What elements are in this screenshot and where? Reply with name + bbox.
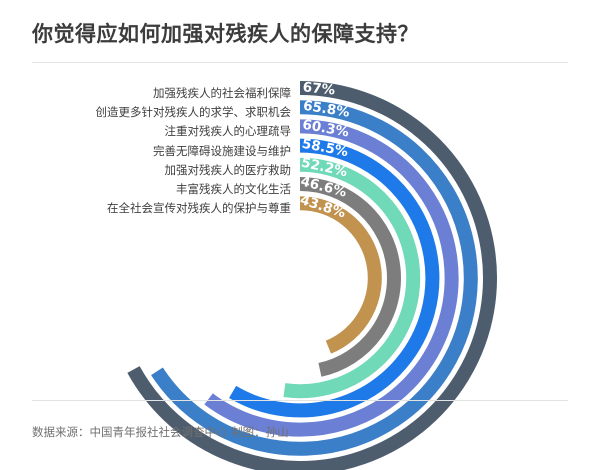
infographic-root: 你觉得应如何加强对残疾人的保障支持？ 加强残疾人的社会福利保障创造更多针对残疾人…: [0, 0, 600, 470]
source-note: 数据来源：中国青年报社社会调查中心 制图：孙山: [32, 424, 289, 440]
footer-divider: [32, 400, 568, 401]
value-label: 67%: [302, 79, 336, 98]
radial-bar-segment: [300, 203, 375, 347]
